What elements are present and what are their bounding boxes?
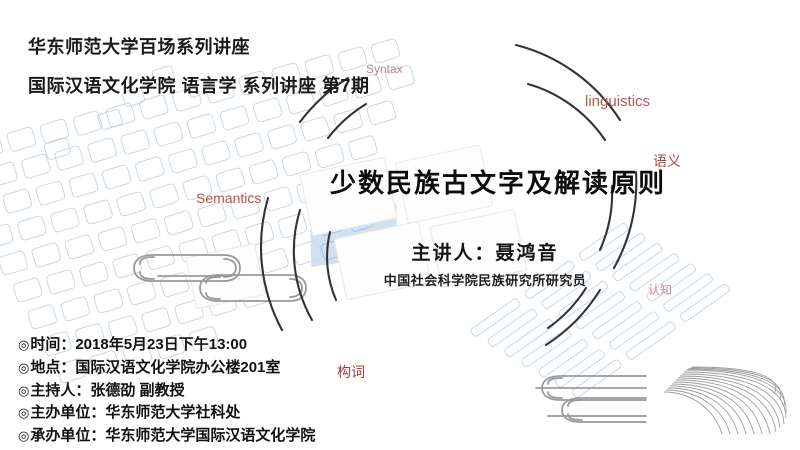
- bullet-icon: ◎: [18, 335, 29, 355]
- detail-text-location: 地点：国际汉语文化学院办公楼201室: [30, 357, 280, 380]
- bullet-icon: ◎: [18, 381, 29, 401]
- event-details-list: ◎ 时间：2018年5月23日下午13:00 ◎ 地点：国际汉语文化学院办公楼2…: [18, 334, 315, 448]
- speaker-name: 主讲人：聂鸿音: [355, 238, 615, 265]
- detail-row-location: ◎ 地点：国际汉语文化学院办公楼201室: [18, 357, 315, 380]
- nested-arc-cone: [664, 367, 786, 434]
- detail-row-time: ◎ 时间：2018年5月23日下午13:00: [18, 334, 315, 357]
- bullet-icon: ◎: [18, 358, 29, 378]
- bullet-icon: ◎: [18, 403, 29, 423]
- keyword-word-formation-cn: 构词: [337, 362, 365, 382]
- header-line-2: 国际汉语文化学院 语言学 系列讲座 第7期: [28, 73, 370, 100]
- detail-text-organizer: 主办单位：华东师范大学社科处: [30, 402, 240, 425]
- bullet-icon: ◎: [18, 426, 29, 446]
- detail-text-co-organizer: 承办单位：华东师范大学国际汉语文化学院: [30, 425, 315, 448]
- header-line-1: 华东师范大学百场系列讲座: [28, 34, 370, 61]
- detail-text-host: 主持人：张德劭 副教授: [30, 380, 184, 403]
- detail-row-co-organizer: ◎ 承办单位：华东师范大学国际汉语文化学院: [18, 425, 315, 448]
- lecture-poster: 华东师范大学百场系列讲座 国际汉语文化学院 语言学 系列讲座 第7期 少数民族古…: [0, 0, 800, 450]
- detail-row-organizer: ◎ 主办单位：华东师范大学社科处: [18, 402, 315, 425]
- speaker-affiliation: 中国社会科学院民族研究所研究员: [355, 270, 615, 289]
- book-outline-left: [134, 255, 306, 301]
- keyword-cognition-cn: 认知: [648, 281, 672, 298]
- book-outline-right: [536, 376, 646, 422]
- lecture-title: 少数民族古文字及解读原则: [330, 163, 666, 200]
- detail-row-host: ◎ 主持人：张德劭 副教授: [18, 380, 315, 403]
- keyword-syntax: Syntax: [366, 62, 403, 76]
- speaker-block: 主讲人：聂鸿音 中国社会科学院民族研究所研究员: [355, 238, 615, 289]
- detail-text-time: 时间：2018年5月23日下午13:00: [30, 334, 247, 357]
- keyword-semantics: Semantics: [196, 190, 261, 206]
- keyword-linguistics: linguistics: [585, 93, 650, 110]
- poster-header: 华东师范大学百场系列讲座 国际汉语文化学院 语言学 系列讲座 第7期: [28, 34, 370, 100]
- diagonal-bar-pattern: [470, 195, 730, 426]
